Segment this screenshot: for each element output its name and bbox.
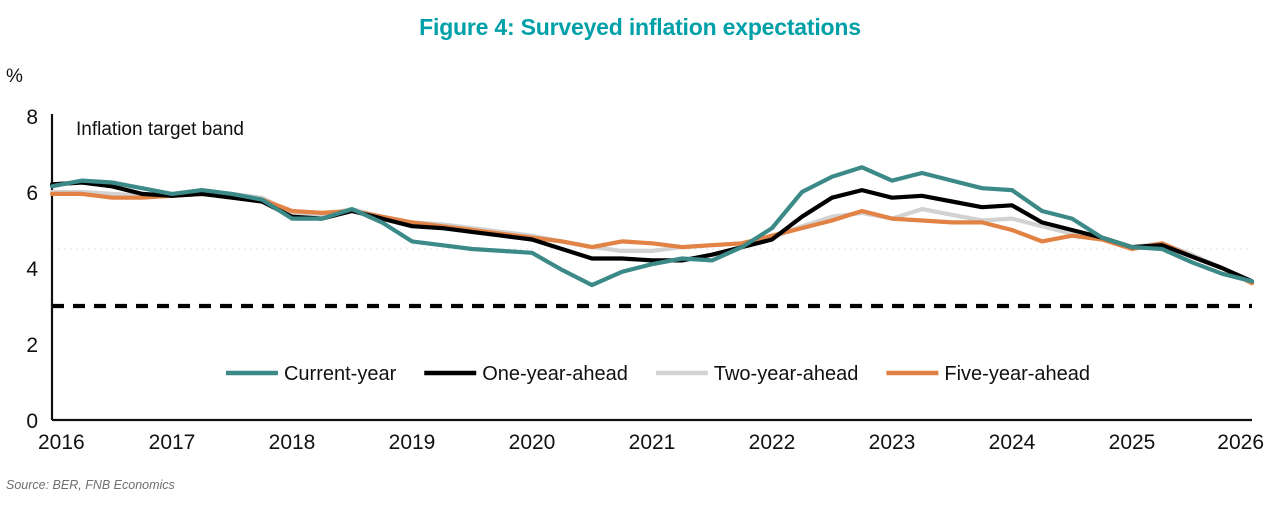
legend-label: Five-year-ahead xyxy=(944,363,1090,385)
x-tick-label: 2025 xyxy=(1109,431,1156,454)
source-note: Source: BER, FNB Economics xyxy=(6,478,175,492)
y-tick-label: 2 xyxy=(26,334,38,357)
series-line-five-year-ahead xyxy=(52,194,1252,283)
y-tick-label: 4 xyxy=(26,258,38,281)
series-line-one-year-ahead xyxy=(52,183,1252,282)
y-tick-label: 8 xyxy=(26,106,38,129)
x-tick-label: 2024 xyxy=(989,431,1036,454)
x-tick-label: 2022 xyxy=(749,431,796,454)
data-series-group xyxy=(52,167,1252,285)
legend-item-current-year[interactable]: Current-year xyxy=(226,363,397,385)
x-tick-label: 2016 xyxy=(38,431,85,454)
y-tick-label: 6 xyxy=(26,182,38,205)
x-tick-label: 2023 xyxy=(869,431,916,454)
legend-label: Current-year xyxy=(284,363,397,385)
x-tick-label: 2021 xyxy=(629,431,676,454)
legend-item-one-year-ahead[interactable]: One-year-ahead xyxy=(424,363,628,385)
legend-item-two-year-ahead[interactable]: Two-year-ahead xyxy=(656,363,859,385)
inflation-target-band-annotation: Inflation target band xyxy=(76,119,244,140)
figure-container: Figure 4: Surveyed inflation expectation… xyxy=(0,0,1280,520)
x-tick-label: 2026 xyxy=(1217,431,1264,454)
legend-label: One-year-ahead xyxy=(482,363,628,385)
x-axis-tick-labels: 2016201720182019202020212022202320242025… xyxy=(38,431,1264,454)
x-tick-label: 2017 xyxy=(149,431,196,454)
y-axis-tick-labels: 02468 xyxy=(26,106,38,433)
line-chart: 02468 2016201720182019202020212022202320… xyxy=(0,0,1280,470)
x-tick-label: 2018 xyxy=(269,431,316,454)
chart-legend: Current-yearOne-year-aheadTwo-year-ahead… xyxy=(226,363,1090,385)
series-line-current-year xyxy=(52,167,1252,285)
legend-label: Two-year-ahead xyxy=(714,363,859,385)
chart-annotations: Inflation target band xyxy=(76,119,244,140)
x-tick-label: 2020 xyxy=(509,431,556,454)
x-tick-label: 2019 xyxy=(389,431,436,454)
legend-item-five-year-ahead[interactable]: Five-year-ahead xyxy=(886,363,1090,385)
y-tick-label: 0 xyxy=(26,410,38,433)
